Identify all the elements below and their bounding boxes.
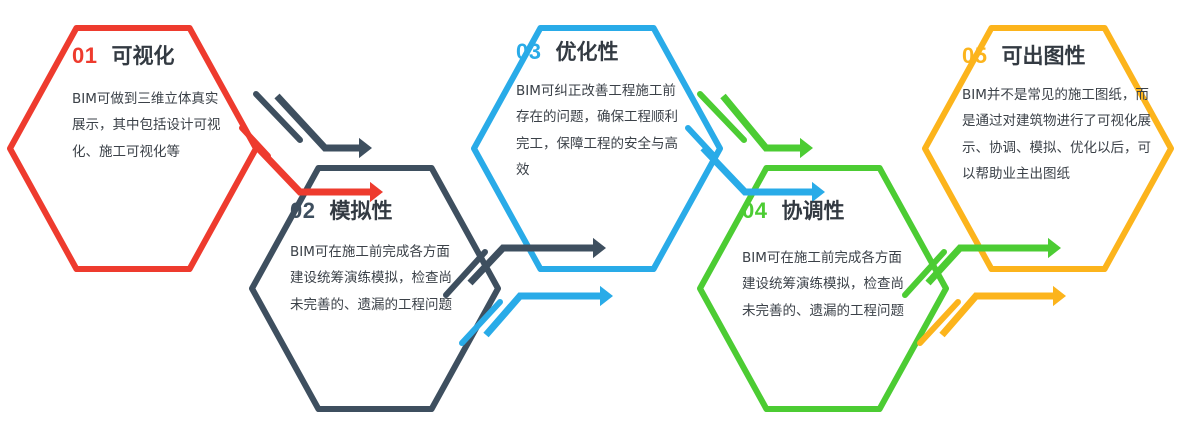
step-card-04[interactable]: 04 协调性 BIM可在施工前完成各方面建设统筹演练模拟，检查尚未完善的、遗漏的… bbox=[742, 195, 932, 324]
step-body-01: BIM可做到三维立体真实展示，其中包括设计可视化、施工可视化等 bbox=[72, 86, 222, 165]
step-number-04: 04 bbox=[742, 198, 767, 224]
step-number-01: 01 bbox=[72, 43, 97, 69]
step-body-03: BIM可纠正改善工程施工前存在的问题，确保工程顺利完工，保障工程的安全与高效 bbox=[516, 78, 678, 183]
arrow-head bbox=[1053, 286, 1066, 306]
infographic-canvas: 01 可视化 BIM可做到三维立体真实展示，其中包括设计可视化、施工可视化等 0… bbox=[0, 0, 1200, 432]
step-title-01: 可视化 bbox=[111, 40, 174, 70]
arrow-shaft bbox=[258, 148, 370, 192]
arrow-shaft bbox=[277, 96, 360, 148]
step-title-05: 可出图性 bbox=[1001, 40, 1085, 70]
arrow-shaft bbox=[470, 248, 593, 283]
step-number-05: 05 bbox=[962, 43, 987, 69]
step-body-04: BIM可在施工前完成各方面建设统筹演练模拟，检查尚未完善的、遗漏的工程问题 bbox=[742, 245, 914, 324]
step-title-04: 协调性 bbox=[781, 195, 844, 225]
step-card-05[interactable]: 05 可出图性 BIM并不是常见的施工图纸，而是通过对建筑物进行了可视化展示、协… bbox=[962, 40, 1162, 187]
arrow-head bbox=[593, 238, 606, 258]
step-number-02: 02 bbox=[290, 198, 315, 224]
step-title-03: 优化性 bbox=[555, 36, 618, 66]
arrow-head bbox=[1048, 238, 1061, 258]
step-card-01[interactable]: 01 可视化 BIM可做到三维立体真实展示，其中包括设计可视化、施工可视化等 bbox=[72, 40, 244, 165]
step-header-03: 03 优化性 bbox=[516, 36, 696, 66]
arrow-head bbox=[359, 138, 372, 158]
step-header-01: 01 可视化 bbox=[72, 40, 244, 70]
step-number-03: 03 bbox=[516, 39, 541, 65]
arrow-shaft bbox=[723, 96, 800, 148]
arrow-shaft bbox=[703, 148, 812, 192]
step-body-05: BIM并不是常见的施工图纸，而是通过对建筑物进行了可视化展示、协调、模拟、优化以… bbox=[962, 82, 1152, 187]
step-header-02: 02 模拟性 bbox=[290, 195, 480, 225]
arrow-head bbox=[600, 286, 613, 306]
step-body-02: BIM可在施工前完成各方面建设统筹演练模拟，检查尚未完善的、遗漏的工程问题 bbox=[290, 239, 462, 318]
step-header-04: 04 协调性 bbox=[742, 195, 932, 225]
step-title-02: 模拟性 bbox=[329, 195, 392, 225]
step-header-05: 05 可出图性 bbox=[962, 40, 1162, 70]
arrow-head bbox=[800, 138, 813, 158]
step-card-02[interactable]: 02 模拟性 BIM可在施工前完成各方面建设统筹演练模拟，检查尚未完善的、遗漏的… bbox=[290, 195, 480, 318]
arrow-shaft bbox=[486, 296, 600, 335]
step-card-03[interactable]: 03 优化性 BIM可纠正改善工程施工前存在的问题，确保工程顺利完工，保障工程的… bbox=[516, 36, 696, 183]
